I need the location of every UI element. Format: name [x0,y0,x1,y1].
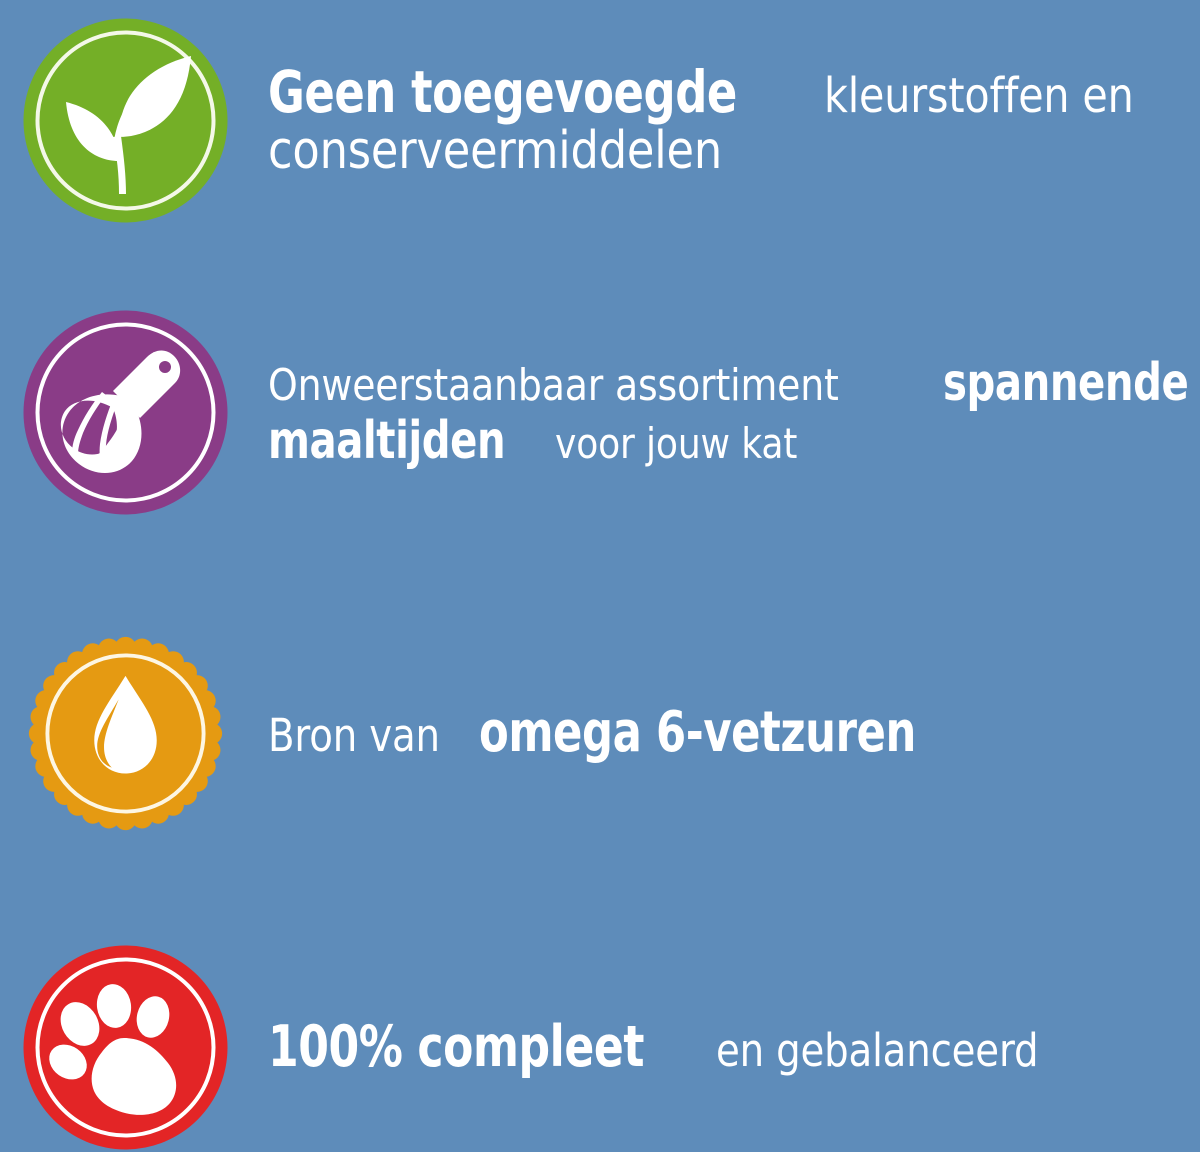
icon-slot-leaves [0,18,250,223]
feature-strong-text: Geen toegevoegde [268,63,737,122]
feature-row-complete-balanced: 100% compleeten gebalanceerd [0,942,1200,1152]
feature-light-text-2: conserveermiddelen [268,125,722,178]
feature-light-text-2: voor jouw kat [555,423,797,466]
feature-light-text: en gebalanceerd [716,1028,1038,1074]
icon-slot-drop [0,631,250,836]
feature-light-text: kleurstoffen en [824,72,1134,121]
feature-text-omega-6: Bron vanomega 6-vetzuren [250,704,1200,761]
feature-row-omega-6: Bron vanomega 6-vetzuren [0,628,1200,838]
feature-text-no-added-colours: Geen toegevoegdekleurstoffen en conserve… [250,63,1200,177]
feature-strong-text-2: maaltijden [268,415,505,468]
feature-strong-text: omega 6-vetzuren [479,704,916,761]
feature-text-irresistible-range: Onweerstaanbaar assortimentspannende maa… [250,357,1200,467]
icon-slot-paw [0,945,250,1150]
feature-row-irresistible-range: Onweerstaanbaar assortimentspannende maa… [0,310,1200,515]
feature-text-complete-balanced: 100% compleeten gebalanceerd [250,1018,1200,1076]
leaves-icon [23,18,228,223]
feature-light-text: Onweerstaanbaar assortiment [268,364,839,409]
feature-strong-text: 100% compleet [268,1018,644,1076]
feature-light-text: Bron van [268,713,440,759]
feature-strong-text: spannende [943,357,1188,410]
paw-print-icon [23,945,228,1150]
feature-row-no-added-colours: Geen toegevoegdekleurstoffen en conserve… [0,18,1200,223]
feature-banner: Geen toegevoegdekleurstoffen en conserve… [0,0,1200,1152]
whisk-icon [23,310,228,515]
water-drop-icon [23,631,228,836]
icon-slot-whisk [0,310,250,515]
